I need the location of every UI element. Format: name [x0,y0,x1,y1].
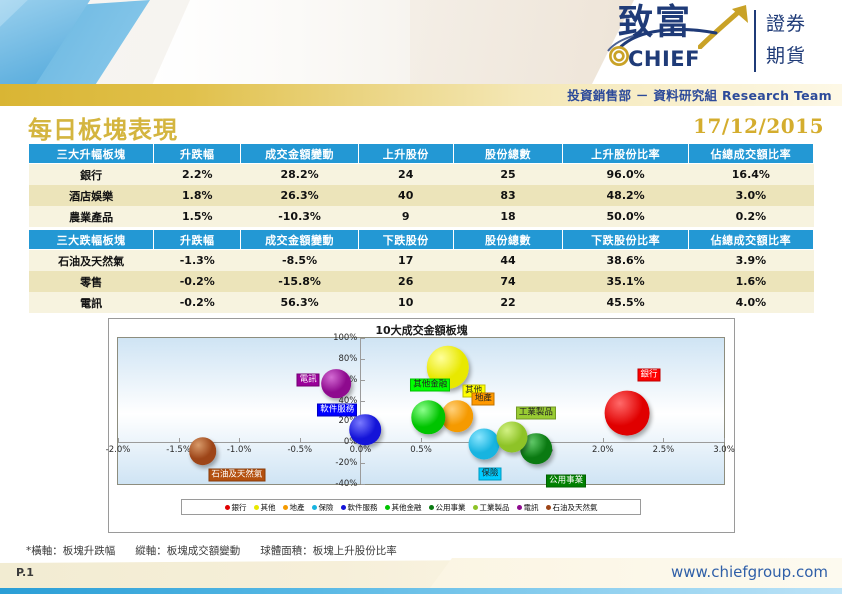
legend-label: 保險 [319,502,334,513]
table-cell: -15.8% [241,271,359,292]
column-header: 下跌股份比率 [563,230,688,250]
legend-dot-icon [429,505,434,510]
logo-side-line2: 期貨 [766,40,806,72]
legend-label: 軟件服務 [348,502,378,513]
x-tick-label: -1.5% [166,445,191,455]
legend-item[interactable]: 公用事業 [429,502,466,513]
legend-label: 工業製品 [480,502,510,513]
table-cell: 96.0% [563,164,688,186]
table-cell: 電訊 [29,292,154,313]
column-header: 佔總成交額比率 [688,230,813,250]
footnote-item-3: 球體面積：板塊上升股份比率 [260,545,397,557]
footer-blue-rule [0,588,842,594]
table-cell: 3.0% [688,185,813,206]
chart-bubble[interactable] [605,390,650,435]
table-cell: 銀行 [29,164,154,186]
table-cell: 38.6% [563,250,688,272]
chart-bubble-label: 軟件服務 [317,403,357,416]
table-cell: 16.4% [688,164,813,186]
table-cell: 農業產品 [29,206,154,227]
table-cell: 44 [453,250,563,272]
table-cell: 48.2% [563,185,688,206]
company-logo: 致富 CHIEF 證券 期貨 [602,2,834,82]
table-row: 酒店娛樂1.8%26.3%408348.2%3.0% [29,185,814,206]
table-cell: 50.0% [563,206,688,227]
table-header-row: 三大升幅板塊升跌幅成交金額變動上升股份股份總數上升股份比率佔總成交額比率 [29,144,814,164]
legend-item[interactable]: 其他金融 [385,502,422,513]
logo-divider [754,10,756,72]
legend-item[interactable]: 石油及天然氣 [546,502,598,513]
top-gainers-table: 三大升幅板塊升跌幅成交金額變動上升股份股份總數上升股份比率佔總成交額比率 銀行2… [28,143,814,227]
table-cell: 28.2% [241,164,359,186]
column-header: 佔總成交額比率 [688,144,813,164]
table-cell: 10 [358,292,453,313]
chart-bubble-label: 地產 [472,393,495,406]
table-cell: 40 [358,185,453,206]
x-tick-mark [603,438,604,442]
chart-bubble-label: 其他金融 [410,379,450,392]
logo-circle-icon [608,45,630,67]
bubble-chart: 10大成交金額板塊 -2.0%-1.5%-1.0%-0.5%0.0%0.5%1.… [108,318,735,533]
footnote-item-2: 縱軸：板塊成交額變動 [135,545,240,557]
logo-mark: 致富 CHIEF [602,3,752,81]
table-cell: 1.8% [154,185,241,206]
table-cell: 0.2% [688,206,813,227]
table-cell: 45.5% [563,292,688,313]
table-cell: 83 [453,185,563,206]
footnote-item-1: 橫軸：板塊升跌幅 [31,545,115,557]
column-header: 三大跌幅板塊 [29,230,154,250]
legend-dot-icon [341,505,346,510]
legend-item[interactable]: 軟件服務 [341,502,378,513]
legend-item[interactable]: 其他 [254,502,276,513]
table-cell: 26.3% [241,185,359,206]
table-cell: 2.2% [154,164,241,186]
table-row: 石油及天然氣-1.3%-8.5%174438.6%3.9% [29,250,814,272]
x-tick-mark [118,438,119,442]
chart-footnote: *橫軸：板塊升跌幅縱軸：板塊成交額變動球體面積：板塊上升股份比率 [26,543,417,558]
column-header: 股份總數 [453,230,563,250]
table-cell: 9 [358,206,453,227]
chart-legend: 銀行其他地產保險軟件服務其他金融公用事業工業製品電訊石油及天然氣 [181,499,641,515]
top-losers-table: 三大跌幅板塊升跌幅成交金額變動下跌股份股份總數下跌股份比率佔總成交額比率 石油及… [28,229,814,313]
legend-dot-icon [385,505,390,510]
chart-bubble-label: 銀行 [638,368,661,381]
table-cell: 35.1% [563,271,688,292]
department-label: 投資銷售部 － 資料研究組 Research Team [567,86,832,105]
legend-dot-icon [254,505,259,510]
y-tick-mark [361,484,365,485]
website-link[interactable]: www.chiefgroup.com [671,563,828,581]
legend-dot-icon [283,505,288,510]
y-tick-label: 80% [330,354,357,364]
x-tick-mark [421,438,422,442]
logo-side-text: 證券 期貨 [766,8,806,72]
x-tick-label: 0.5% [410,445,432,455]
chart-bubble[interactable] [469,429,500,460]
table-cell: -1.3% [154,250,241,272]
legend-label: 公用事業 [436,502,466,513]
chart-title: 10大成交金額板塊 [109,322,734,338]
x-tick-mark [300,438,301,442]
legend-dot-icon [546,505,551,510]
table-cell: 25 [453,164,563,186]
legend-item[interactable]: 電訊 [517,502,539,513]
x-tick-label: -0.5% [287,445,312,455]
table-row: 電訊-0.2%56.3%102245.5%4.0% [29,292,814,313]
chart-bubble-label: 石油及天然氣 [208,469,265,482]
table-cell: 石油及天然氣 [29,250,154,272]
y-axis-line [360,338,361,484]
page-title: 每日板塊表現 [28,110,178,145]
table-cell: -10.3% [241,206,359,227]
legend-dot-icon [517,505,522,510]
top-banner: 致富 CHIEF 證券 期貨 [0,0,842,84]
legend-dot-icon [473,505,478,510]
table-cell: 18 [453,206,563,227]
y-tick-label: -20% [330,458,357,468]
chart-bubble[interactable] [349,414,381,446]
x-tick-mark [239,438,240,442]
chart-bubble-label: 電訊 [297,373,320,386]
column-header: 三大升幅板塊 [29,144,154,164]
slide-root: 致富 CHIEF 證券 期貨 [0,0,842,595]
y-tick-mark [361,380,365,381]
chart-bubble-label: 保險 [479,468,502,481]
banner-swoosh-white [150,0,410,84]
page-number: P.1 [16,566,34,579]
table-row: 零售-0.2%-15.8%267435.1%1.6% [29,271,814,292]
x-tick-mark [724,438,725,442]
table-cell: -8.5% [241,250,359,272]
chart-bubble[interactable] [189,437,217,465]
chart-bubble[interactable] [442,400,474,432]
chart-plot-area: -2.0%-1.5%-1.0%-0.5%0.0%0.5%1.0%1.5%2.0%… [117,337,725,485]
table-cell: 酒店娛樂 [29,185,154,206]
table-cell: 56.3% [241,292,359,313]
table-cell: 22 [453,292,563,313]
legend-label: 石油及天然氣 [553,502,598,513]
legend-dot-icon [225,505,230,510]
column-header: 股份總數 [453,144,563,164]
legend-label: 電訊 [524,502,539,513]
legend-label: 銀行 [232,502,247,513]
column-header: 升跌幅 [154,230,241,250]
chart-bubble[interactable] [412,401,445,434]
legend-label: 地產 [290,502,305,513]
chart-bubble-label: 公用事業 [546,474,586,487]
table-cell: 零售 [29,271,154,292]
logo-chief-text: CHIEF [628,47,700,71]
y-tick-mark [361,338,365,339]
logo-side-line1: 證券 [766,8,806,40]
legend-item[interactable]: 工業製品 [473,502,510,513]
y-tick-label: 100% [330,333,357,343]
column-header: 成交金額變動 [241,230,359,250]
table-row: 銀行2.2%28.2%242596.0%16.4% [29,164,814,186]
table-cell: 1.5% [154,206,241,227]
table-cell: -0.2% [154,271,241,292]
x-tick-mark [663,438,664,442]
report-date: 17/12/2015 [693,114,824,138]
x-tick-label: -1.0% [227,445,252,455]
column-header: 上升股份比率 [563,144,688,164]
table-cell: 1.6% [688,271,813,292]
table-cell: 4.0% [688,292,813,313]
y-tick-mark [361,401,365,402]
table-cell: 26 [358,271,453,292]
table-cell: -0.2% [154,292,241,313]
table-cell: 74 [453,271,563,292]
legend-item[interactable]: 銀行 [225,502,247,513]
table-header-row: 三大跌幅板塊升跌幅成交金額變動下跌股份股份總數下跌股份比率佔總成交額比率 [29,230,814,250]
column-header: 升跌幅 [154,144,241,164]
legend-item[interactable]: 地產 [283,502,305,513]
column-header: 下跌股份 [358,230,453,250]
x-tick-label: 3.0% [713,445,735,455]
table-cell: 24 [358,164,453,186]
column-header: 成交金額變動 [241,144,359,164]
y-tick-mark [361,463,365,464]
y-tick-label: -40% [330,479,357,489]
x-tick-label: 2.5% [653,445,675,455]
legend-dot-icon [312,505,317,510]
legend-label: 其他 [261,502,276,513]
table-cell: 17 [358,250,453,272]
x-tick-mark [179,438,180,442]
legend-label: 其他金融 [392,502,422,513]
column-header: 上升股份 [358,144,453,164]
legend-item[interactable]: 保險 [312,502,334,513]
table-cell: 3.9% [688,250,813,272]
chart-bubble[interactable] [321,369,351,399]
chart-bubble-label: 工業製品 [516,407,556,420]
table-row: 農業產品1.5%-10.3%91850.0%0.2% [29,206,814,227]
x-tick-label: -2.0% [106,445,131,455]
x-tick-label: 2.0% [592,445,614,455]
y-tick-mark [361,359,365,360]
chart-bubble[interactable] [496,422,527,453]
